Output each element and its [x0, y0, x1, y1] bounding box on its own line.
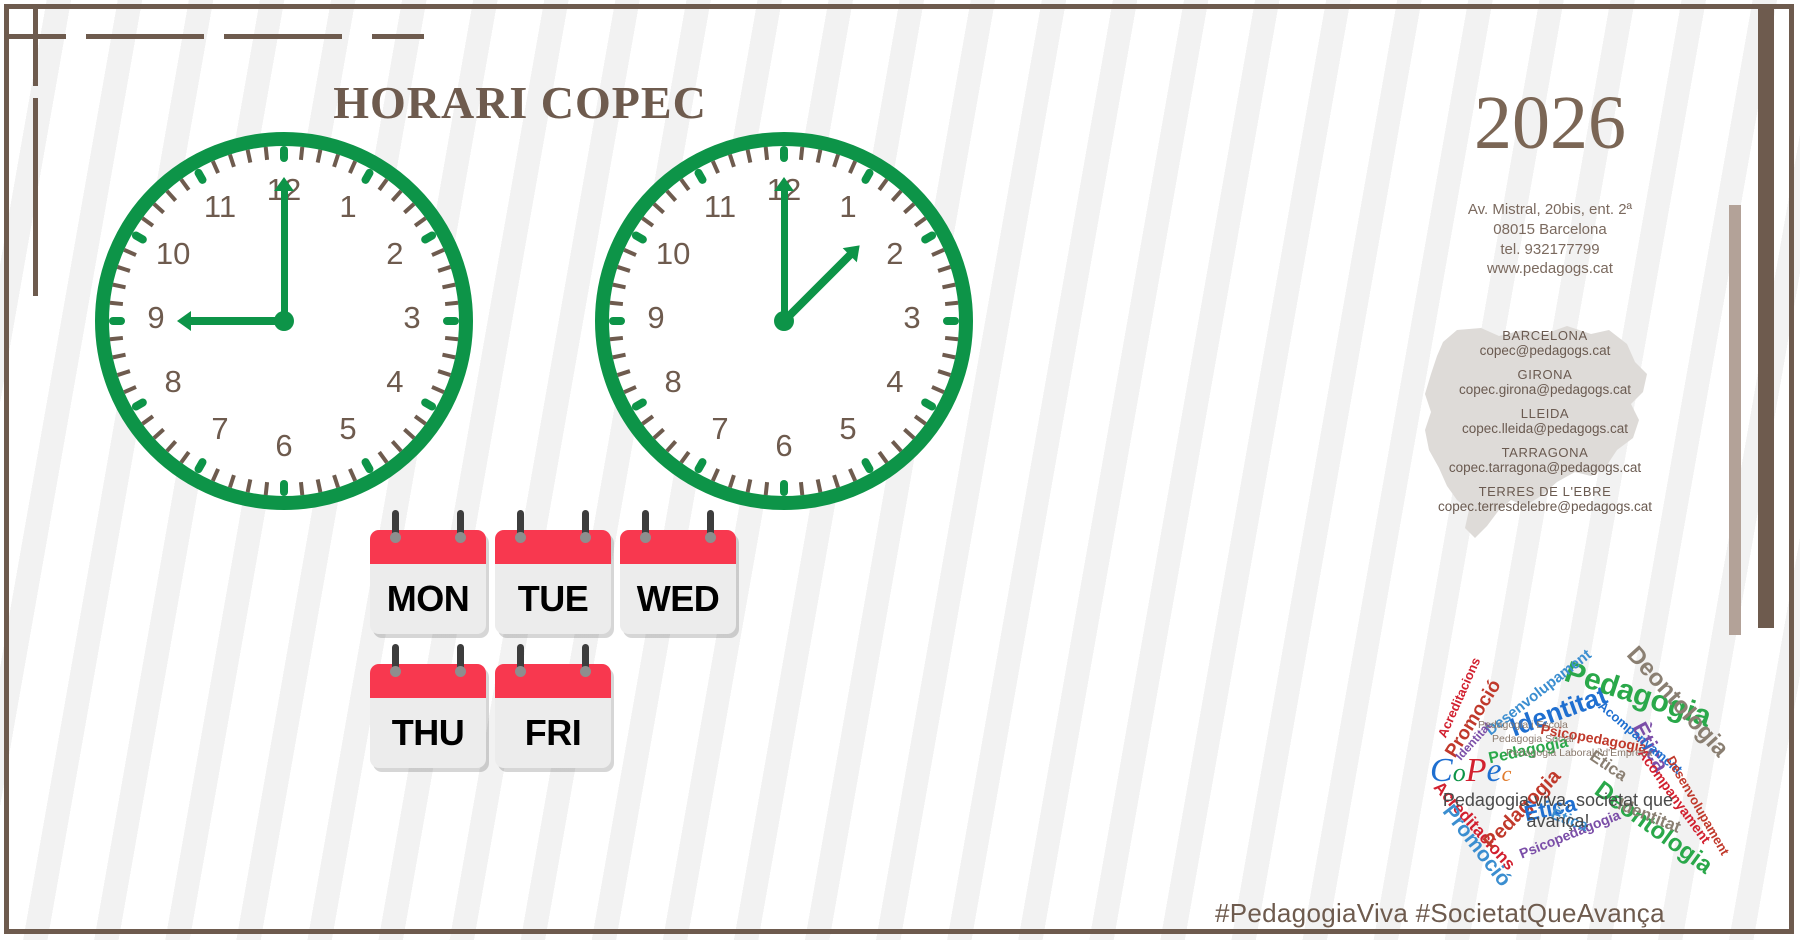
clock-numeral-5: 5 [826, 411, 870, 447]
discipline-2: Pedagogia Social [1478, 732, 1652, 746]
clock-numeral-11: 11 [198, 189, 242, 225]
clock-numeral-7: 7 [198, 411, 242, 447]
calendar-header [370, 530, 486, 564]
calendar-ring-right [457, 510, 464, 540]
office-city: LLEIDA [1385, 406, 1705, 421]
clock-numeral-1: 1 [326, 189, 370, 225]
office-barcelona: BARCELONA copec@pedagogs.cat [1385, 328, 1705, 358]
clock-numeral-3: 3 [890, 300, 934, 336]
calendar-ring-left [517, 644, 524, 674]
logo-tagline: Pedagogia viva, societat que avança! [1412, 790, 1704, 832]
office-city: BARCELONA [1385, 328, 1705, 343]
office-city: GIRONA [1385, 367, 1705, 382]
address-line-2: 08015 Barcelona [1420, 220, 1680, 240]
calendar-ring-right [457, 644, 464, 674]
office-city: TARRAGONA [1385, 445, 1705, 460]
decor-dash-h2 [86, 34, 204, 39]
office-email[interactable]: copec@pedagogs.cat [1385, 343, 1705, 358]
contact-address: Av. Mistral, 20bis, ent. 2ª 08015 Barcel… [1420, 200, 1680, 279]
office-email[interactable]: copec.tarragona@pedagogs.cat [1385, 460, 1705, 475]
day-card-thu[interactable]: THU [370, 664, 486, 768]
clock-hour-hand [189, 317, 284, 325]
clock-minute-hand [281, 189, 288, 321]
clock-numeral-8: 8 [651, 364, 695, 400]
clock-opening-time: 121234567891011 [95, 132, 473, 510]
day-card-tue[interactable]: TUE [495, 530, 611, 634]
address-line-4: www.pedagogs.cat [1420, 259, 1680, 279]
calendar-ring-left [392, 644, 399, 674]
office-girona: GIRONA copec.girona@pedagogs.cat [1385, 367, 1705, 397]
clock-numeral-4: 4 [873, 364, 917, 400]
clock-numeral-7: 7 [698, 411, 742, 447]
calendar-header [495, 530, 611, 564]
clock-numeral-10: 10 [651, 236, 695, 272]
clock-numeral-2: 2 [373, 236, 417, 272]
year-label: 2026 [1435, 80, 1665, 167]
office-lleida: LLEIDA copec.lleida@pedagogs.cat [1385, 406, 1705, 436]
clock-numeral-8: 8 [151, 364, 195, 400]
clock-pivot [774, 311, 794, 331]
clock-numeral-6: 6 [762, 428, 806, 464]
calendar-ring-left [392, 510, 399, 540]
hashtags: #PedagogiaViva #SocietatQueAvança [1215, 898, 1665, 929]
calendar-ring-left [517, 510, 524, 540]
decor-dash-h3 [224, 34, 342, 39]
clock-numeral-9: 9 [134, 300, 178, 336]
office-city: TERRES DE L'EBRE [1385, 484, 1705, 499]
calendar-ring-right [582, 510, 589, 540]
poster-canvas: HORARI COPEC 121234567891011 12123456789… [0, 0, 1800, 940]
clock-numeral-3: 3 [390, 300, 434, 336]
clock-numeral-5: 5 [326, 411, 370, 447]
clock-numeral-1: 1 [826, 189, 870, 225]
day-card-wed[interactable]: WED [620, 530, 736, 634]
office-email[interactable]: copec.terresdelebre@pedagogs.cat [1385, 499, 1705, 514]
copec-wordmark: CoPec [1430, 752, 1511, 790]
page-title: HORARI COPEC [0, 76, 1040, 129]
day-label: FRI [495, 698, 611, 768]
decor-bar-light [1729, 205, 1741, 635]
office-terres-de-lebre: TERRES DE L'EBRE copec.terresdelebre@ped… [1385, 484, 1705, 514]
calendar-ring-right [582, 644, 589, 674]
office-list: BARCELONA copec@pedagogs.cat GIRONA cope… [1385, 328, 1705, 523]
day-label: MON [370, 564, 486, 634]
decor-dash-v3 [33, 196, 38, 296]
clock-pivot [274, 311, 294, 331]
clock-closing-time: 121234567891011 [595, 132, 973, 510]
day-card-mon[interactable]: MON [370, 530, 486, 634]
office-email[interactable]: copec.girona@pedagogs.cat [1385, 382, 1705, 397]
clock-numeral-4: 4 [373, 364, 417, 400]
address-line-1: Av. Mistral, 20bis, ent. 2ª [1420, 200, 1680, 220]
calendar-ring-left [642, 510, 649, 540]
clock-numeral-2: 2 [873, 236, 917, 272]
calendar-header [495, 664, 611, 698]
day-card-fri[interactable]: FRI [495, 664, 611, 768]
decor-bar-dark [1758, 8, 1774, 628]
decor-dash-v1 [33, 8, 38, 86]
clock-minute-hand [781, 189, 788, 321]
calendar-header [370, 664, 486, 698]
address-line-3: tel. 932177799 [1420, 240, 1680, 260]
clock-numeral-9: 9 [634, 300, 678, 336]
calendar-header [620, 530, 736, 564]
office-tarragona: TARRAGONA copec.tarragona@pedagogs.cat [1385, 445, 1705, 475]
discipline-1: Pedagogia i Escola [1478, 718, 1652, 732]
clock-numeral-10: 10 [151, 236, 195, 272]
day-label: WED [620, 564, 736, 634]
calendar-ring-right [707, 510, 714, 540]
clock-numeral-6: 6 [262, 428, 306, 464]
office-email[interactable]: copec.lleida@pedagogs.cat [1385, 421, 1705, 436]
clock-numeral-11: 11 [698, 189, 742, 225]
decor-dash-h4 [372, 34, 424, 39]
day-label: THU [370, 698, 486, 768]
day-label: TUE [495, 564, 611, 634]
